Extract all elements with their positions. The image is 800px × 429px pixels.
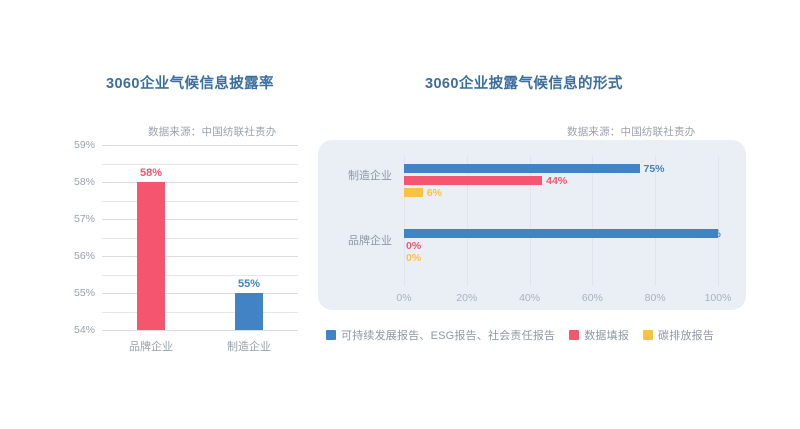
gridline-major [102,256,298,257]
right-chart-source-note: 数据来源：中国纺联社责办 [567,124,695,139]
gridline-minor [102,275,298,276]
bar-品牌企业-series-1[interactable]: 100% [404,229,718,238]
left-chart-title: 3060企业气候信息披露率 [106,72,274,93]
bar-制造企业-series-3[interactable]: 6% [404,188,423,197]
y-axis-tick-label: 57% [74,213,95,225]
bar-制造企业-series-1[interactable]: 75% [404,164,640,173]
x-axis-tick-label: 0% [396,292,411,304]
bar-value-label: 6% [427,187,442,199]
gridline-minor [102,238,298,239]
y-axis-tick-label: 59% [74,139,95,151]
x-axis-tick-label: 40% [519,292,540,304]
x-axis-tick-label: 80% [645,292,666,304]
legend-item-1[interactable]: 可持续发展报告、ESG报告、社会责任报告 [326,327,555,343]
gridline-vertical [592,156,593,286]
legend-item-label: 可持续发展报告、ESG报告、社会责任报告 [341,327,555,343]
x-axis-tick-label: 100% [705,292,732,304]
gridline-minor [102,312,298,313]
category-label-品牌企业: 品牌企业 [348,232,392,248]
gridline-major [102,330,298,331]
left-chart-source-note: 数据来源：中国纺联社责办 [148,124,276,139]
gridline-major [102,293,298,294]
square-swatch [643,330,653,340]
legend-item-2[interactable]: 数据填报 [569,327,629,343]
square-swatch [326,330,336,340]
left-bar-chart: 54%55%56%57%58%59%58%品牌企业55%制造企业 [70,140,310,345]
legend-item-3[interactable]: 碳排放报告 [643,327,714,343]
bar-value-label: 58% [140,167,162,179]
y-axis-tick-label: 55% [74,287,95,299]
gridline-major [102,182,298,183]
bar-value-label: 100% [694,228,721,240]
legend-item-label: 数据填报 [584,327,629,343]
gridline-major [102,145,298,146]
gridline-minor [102,201,298,202]
gridline-vertical [655,156,656,286]
right-chart-title: 3060企业披露气候信息的形式 [425,72,623,93]
bar-value-label-zero: 0% [406,240,421,252]
bar-value-label: 75% [644,163,665,175]
bar-value-label-zero: 0% [406,252,421,264]
left-plot-area: 54%55%56%57%58%59%58%品牌企业55%制造企业 [102,145,298,330]
y-axis-tick-label: 56% [74,250,95,262]
bar-value-label: 44% [546,175,567,187]
legend-item-label: 碳排放报告 [658,327,714,343]
x-axis-category-label: 制造企业 [227,338,271,354]
square-swatch [569,330,579,340]
x-axis-tick-label: 20% [456,292,477,304]
bar-品牌企业[interactable]: 58%品牌企业 [137,182,165,330]
gridline-vertical [718,156,719,286]
bar-制造企业[interactable]: 55%制造企业 [235,293,263,330]
y-axis-tick-label: 58% [74,176,95,188]
x-axis-tick-label: 60% [582,292,603,304]
gridline-major [102,219,298,220]
chart-legend: 可持续发展报告、ESG报告、社会责任报告数据填报碳排放报告 [326,327,714,343]
y-axis-tick-label: 54% [74,324,95,336]
bar-value-label: 55% [238,278,260,290]
x-axis-category-label: 品牌企业 [129,338,173,354]
bar-制造企业-series-2[interactable]: 44% [404,176,542,185]
category-label-制造企业: 制造企业 [348,167,392,183]
right-plot-area: 0%20%40%60%80%100%制造企业75%44%6%品牌企业100%0%… [404,156,718,286]
gridline-minor [102,164,298,165]
right-bar-chart: 0%20%40%60%80%100%制造企业75%44%6%品牌企业100%0%… [318,140,746,310]
